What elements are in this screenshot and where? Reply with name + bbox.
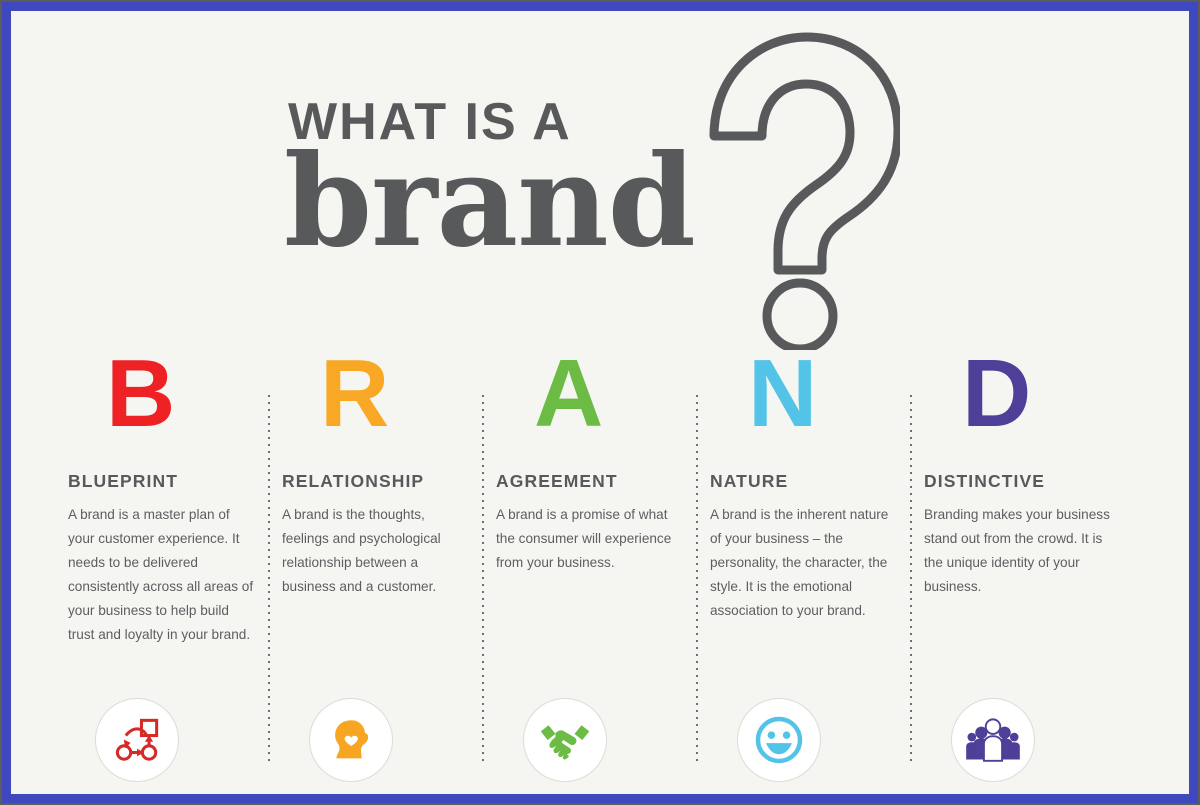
body-agreement: A brand is a promise of what the consume… [496, 503, 682, 575]
handshake-icon [539, 720, 591, 760]
column-agreement: A AGREEMENT A brand is a promise of what… [496, 352, 710, 782]
heading-nature: NATURE [710, 471, 896, 492]
icon-badge-blueprint [95, 698, 179, 782]
column-nature: N NATURE A brand is the inherent nature … [710, 352, 924, 782]
body-relationship: A brand is the thoughts, feelings and ps… [282, 503, 468, 599]
column-blueprint: B BLUEPRINT A brand is a master plan of … [68, 352, 282, 782]
heading-agreement: AGREEMENT [496, 471, 682, 492]
title-block: WHAT IS A brand [0, 82, 1200, 292]
icon-badge-nature [737, 698, 821, 782]
title-line-2: brand [284, 138, 695, 264]
flowchart-diagram-icon [112, 715, 162, 765]
big-letter-a: A [534, 352, 682, 444]
smiley-face-icon [754, 715, 804, 765]
body-distinctive: Branding makes your business stand out f… [924, 503, 1110, 599]
infographic-poster: WHAT IS A brand B BLUEPRINT A brand is a… [0, 0, 1200, 805]
icon-badge-distinctive [951, 698, 1035, 782]
body-nature: A brand is the inherent nature of your b… [710, 503, 896, 623]
heading-relationship: RELATIONSHIP [282, 471, 468, 492]
big-letter-n: N [748, 352, 896, 444]
head-with-heart-icon [327, 716, 375, 764]
group-of-people-icon [966, 718, 1020, 763]
icon-badge-agreement [523, 698, 607, 782]
icon-badge-relationship [309, 698, 393, 782]
big-letter-b: B [106, 352, 254, 444]
heading-blueprint: BLUEPRINT [68, 471, 254, 492]
heading-distinctive: DISTINCTIVE [924, 471, 1110, 492]
column-relationship: R RELATIONSHIP A brand is the thoughts, … [282, 352, 496, 782]
big-letter-d: D [962, 352, 1110, 444]
brand-columns: B BLUEPRINT A brand is a master plan of … [68, 352, 1138, 782]
question-mark-outline-icon [670, 20, 900, 350]
column-distinctive: D DISTINCTIVE Branding makes your busine… [924, 352, 1138, 782]
big-letter-r: R [320, 352, 468, 444]
body-blueprint: A brand is a master plan of your custome… [68, 503, 254, 647]
poster-canvas: WHAT IS A brand B BLUEPRINT A brand is a… [0, 0, 1200, 805]
